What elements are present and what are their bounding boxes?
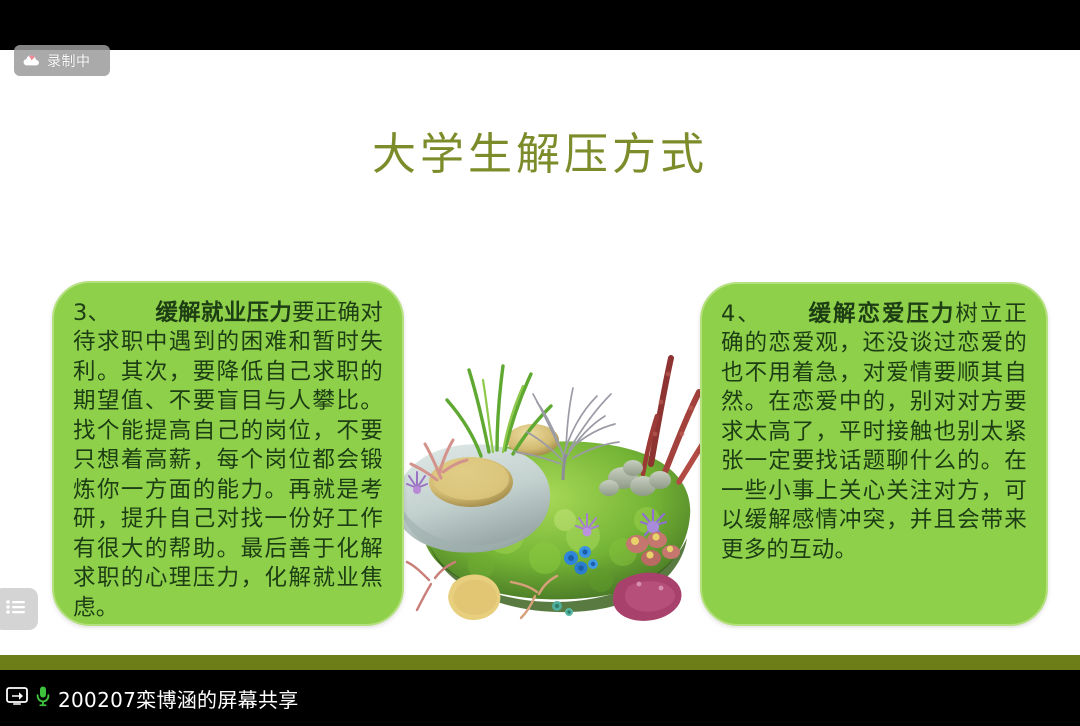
panel-left-heading: 缓解就业压力 (155, 300, 292, 326)
list-icon (5, 599, 27, 620)
recording-status-badge[interactable]: 录制中 (14, 45, 110, 76)
bottom-bar: 200207栾博涵的屏幕共享 (0, 670, 1080, 726)
text-panel-romance-stress: 4、缓解恋爱压力树立正确的恋爱观，还没谈过恋爱的也不用着急，对爱情要顺其自然。在… (700, 282, 1048, 626)
screen-share-owner-label: 200207栾博涵的屏幕共享 (58, 684, 299, 713)
panel-left-body: 要正确对待求职中遇到的困难和暂时失利。其次，要降低自己求职的期望值、不要盲目与人… (73, 300, 383, 621)
panel-right-body: 树立正确的恋爱观，还没谈过恋爱的也不用着急，对爱情要顺其自然。在恋爱中的，别对对… (721, 301, 1027, 563)
screen-share-icon (6, 686, 28, 711)
panel-right-number: 4、 (721, 301, 762, 327)
meeting-window: 大学生解压方式 (0, 0, 1080, 726)
recording-label: 录制中 (47, 54, 91, 68)
list-panel-toggle-button[interactable] (0, 588, 38, 630)
cloud-icon (23, 54, 40, 67)
top-bar (0, 0, 1080, 50)
panel-left-number: 3、 (73, 300, 110, 326)
page-title: 大学生解压方式 (0, 118, 1080, 182)
text-panel-employment-stress: 3、缓解就业压力要正确对待求职中遇到的困难和暂时失利。其次，要降低自己求职的期望… (52, 281, 404, 626)
coral-reef-illustration (385, 330, 725, 630)
shared-screen-slide: 大学生解压方式 (0, 50, 1080, 670)
panel-right-heading: 缓解恋爱压力 (807, 301, 956, 327)
microphone-icon[interactable] (35, 685, 51, 712)
olive-band (0, 655, 1080, 671)
